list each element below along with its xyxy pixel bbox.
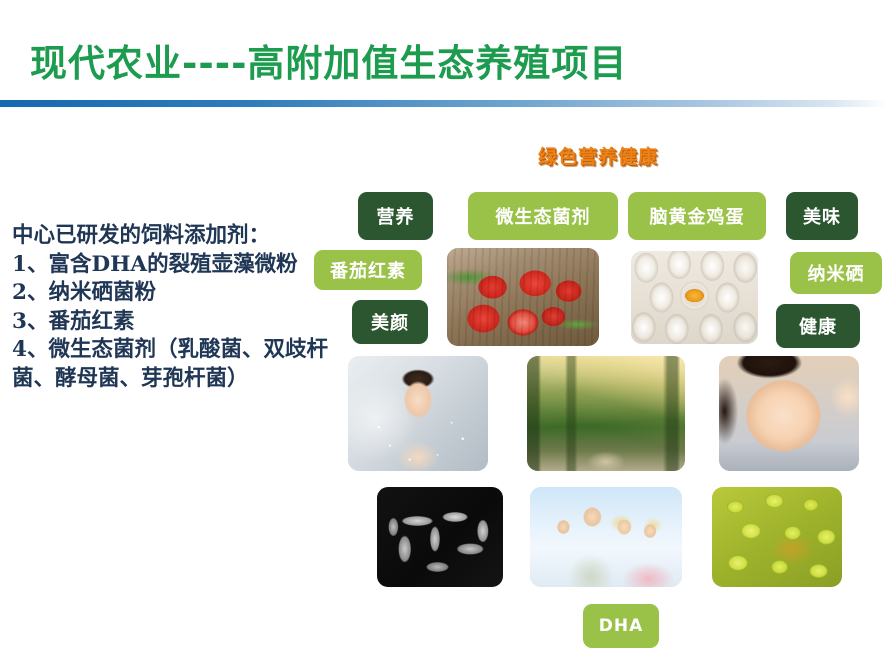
photo-family: [530, 487, 682, 587]
pill-health[interactable]: 健康: [776, 304, 860, 348]
photo-sunbeam-park: [527, 356, 685, 471]
additive-item-4: 4、微生态菌剂（乳酸菌、双歧杆菌、酵母菌、芽孢杆菌）: [12, 336, 342, 393]
pill-nutrition[interactable]: 营养: [358, 192, 433, 240]
photo-bacteria-microscopy: [377, 487, 503, 587]
bacteria-microscopy-image: [377, 487, 503, 587]
additive-item-1: 1、富含DHA的裂殖壶藻微粉: [12, 251, 342, 280]
title-divider-rule: [0, 100, 887, 107]
pill-nano-selenium[interactable]: 纳米硒: [790, 252, 882, 294]
algae-microscopy-image: [712, 487, 842, 587]
pill-lycopene[interactable]: 番茄红素: [314, 250, 422, 290]
additive-item-2: 2、纳米硒菌粉: [12, 279, 342, 308]
sunbeam-park-image: [527, 356, 685, 471]
photo-algae-microscopy: [712, 487, 842, 587]
pill-dha[interactable]: DHA: [583, 604, 659, 648]
photo-tomatoes: [447, 248, 599, 346]
photo-skincare-woman: [348, 356, 488, 471]
pill-tasty[interactable]: 美味: [786, 192, 858, 240]
baby-image: [719, 356, 859, 471]
eggs-image: [631, 251, 758, 344]
presentation-slide: 现代农业----高附加值生态养殖项目 中心已研发的饲料添加剂： 1、富含DHA的…: [0, 0, 887, 661]
page-title: 现代农业----高附加值生态养殖项目: [30, 45, 627, 82]
pill-microecological-agent[interactable]: 微生态菌剂: [468, 192, 618, 240]
photo-eggs: [631, 251, 758, 344]
additives-heading: 中心已研发的饲料添加剂：: [12, 222, 342, 251]
photo-baby: [719, 356, 859, 471]
eco-headline: 绿色营养健康: [538, 142, 658, 169]
additive-item-3: 3、番茄红素: [12, 308, 342, 337]
skincare-woman-image: [348, 356, 488, 471]
additives-text-block: 中心已研发的饲料添加剂： 1、富含DHA的裂殖壶藻微粉 2、纳米硒菌粉 3、番茄…: [12, 222, 342, 394]
tomatoes-image: [447, 248, 599, 346]
pill-brain-gold-egg[interactable]: 脑黄金鸡蛋: [628, 192, 766, 240]
pill-beauty[interactable]: 美颜: [352, 300, 428, 344]
family-image: [530, 487, 682, 587]
